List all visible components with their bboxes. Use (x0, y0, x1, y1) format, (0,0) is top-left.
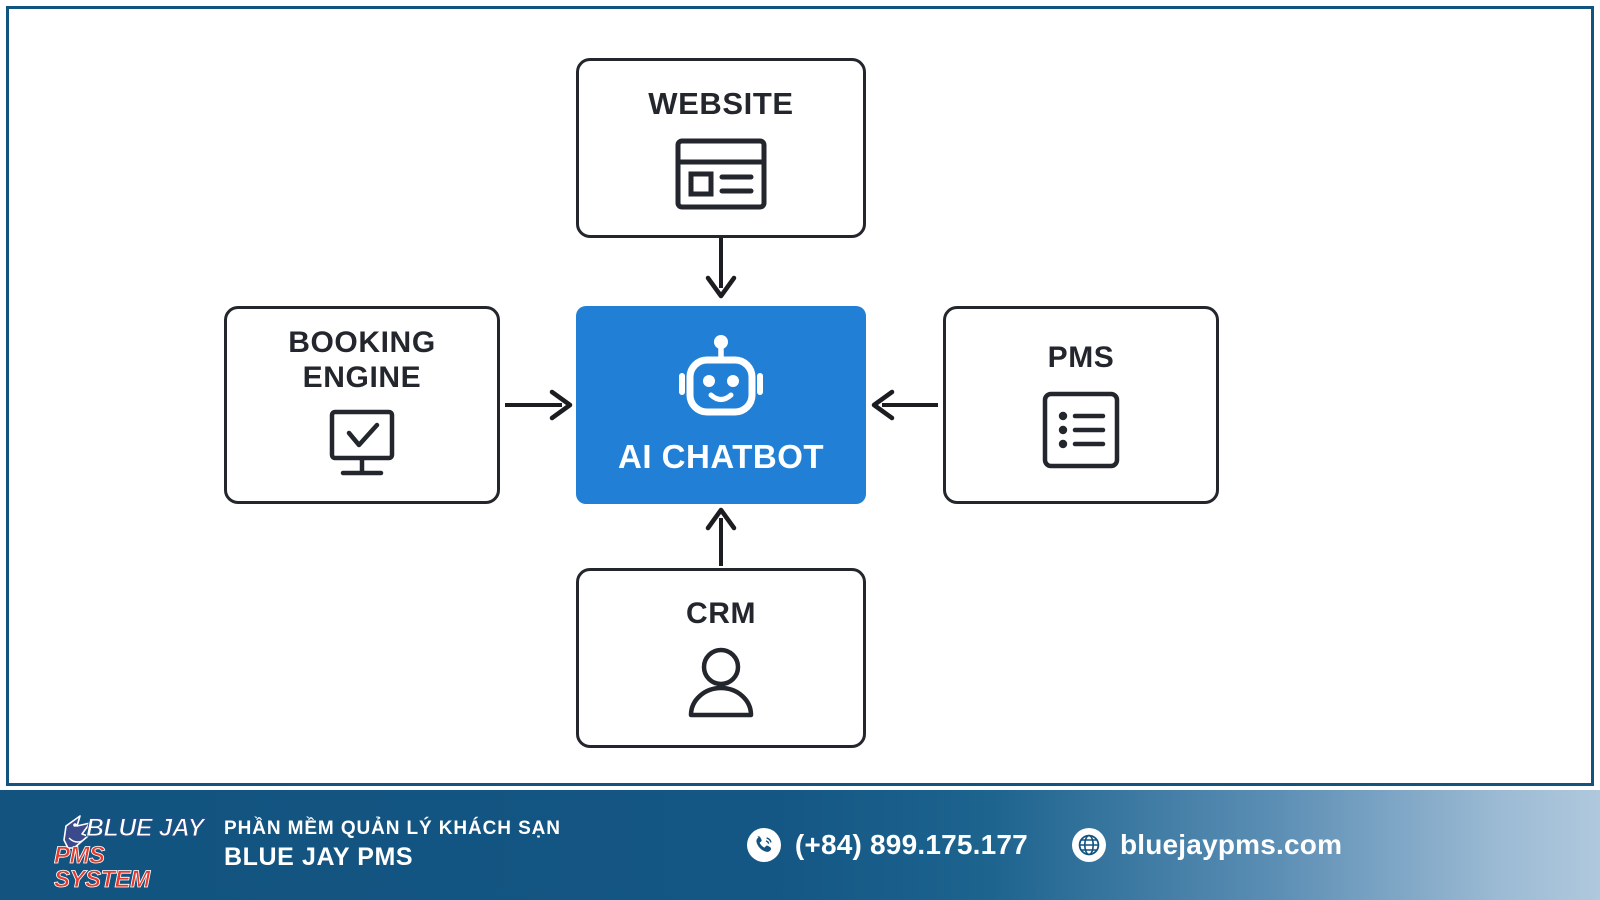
logo-text-blue-jay: BLUE JAY (86, 816, 204, 841)
node-booking-engine[interactable]: BOOKING ENGINE (224, 306, 500, 504)
node-booking-engine-label: BOOKING ENGINE (288, 325, 436, 396)
bullet-list-icon (1041, 390, 1121, 470)
node-crm[interactable]: CRM (576, 568, 866, 748)
node-crm-label: CRM (686, 596, 756, 631)
page-root: WEBSITE BOOKING ENGINE (0, 0, 1600, 900)
node-pms[interactable]: PMS (943, 306, 1219, 504)
arrow-booking-to-chatbot (505, 392, 570, 418)
footer-contacts: (+84) 899.175.177 bluejaypms.com (747, 828, 1342, 862)
brand-name: BLUE JAY PMS (224, 842, 561, 873)
node-pms-label: PMS (1048, 340, 1115, 375)
contact-phone[interactable]: (+84) 899.175.177 (747, 828, 1028, 862)
company-logo: BLUE JAY PMS SYSTEM (54, 814, 204, 876)
robot-icon (673, 334, 769, 426)
arrow-crm-to-chatbot (708, 510, 734, 566)
node-booking-engine-label-line1: BOOKING (288, 326, 436, 359)
brand-tagline: PHẦN MỀM QUẢN LÝ KHÁCH SẠN (224, 817, 561, 841)
integration-diagram: WEBSITE BOOKING ENGINE (0, 0, 1600, 790)
node-booking-engine-label-line2: ENGINE (303, 361, 422, 394)
arrow-pms-to-chatbot (874, 392, 938, 418)
monitor-check-icon (316, 409, 408, 485)
node-ai-chatbot[interactable]: AI CHATBOT (576, 306, 866, 504)
globe-icon (1072, 828, 1106, 862)
arrow-website-to-chatbot (708, 238, 734, 296)
contact-website-text: bluejaypms.com (1120, 829, 1342, 861)
brand-block: PHẦN MỀM QUẢN LÝ KHÁCH SẠN BLUE JAY PMS (224, 817, 561, 874)
logo-text-pms-system: PMS SYSTEM (54, 844, 204, 892)
user-person-icon (683, 646, 759, 720)
contact-website[interactable]: bluejaypms.com (1072, 828, 1342, 862)
browser-window-icon (675, 138, 767, 210)
footer-bar: BLUE JAY PMS SYSTEM PHẦN MỀM QUẢN LÝ KHÁ… (0, 790, 1600, 900)
phone-ringing-icon (747, 828, 781, 862)
node-ai-chatbot-label: AI CHATBOT (618, 438, 824, 476)
node-website-label: WEBSITE (648, 86, 793, 123)
contact-phone-text: (+84) 899.175.177 (795, 829, 1028, 861)
node-website[interactable]: WEBSITE (576, 58, 866, 238)
